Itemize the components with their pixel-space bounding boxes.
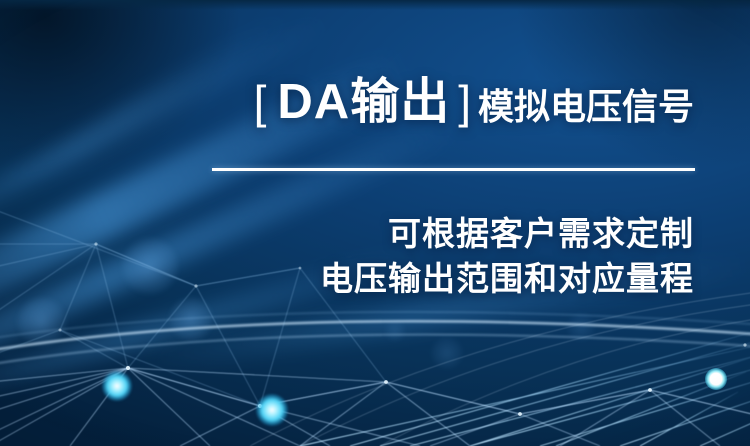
product-banner: [DA输出] 模拟电压信号 可根据客户需求定制 电压输出范围和对应量程	[0, 0, 750, 446]
bracket-open-text: [	[254, 76, 268, 128]
description-block: 可根据客户需求定制 电压输出范围和对应量程	[320, 212, 694, 302]
headline-row: [DA输出] 模拟电压信号	[0, 78, 694, 127]
headline-bracketed: [DA输出]	[254, 78, 472, 127]
headline-subtitle: 模拟电压信号	[478, 89, 694, 125]
horizontal-rule	[212, 168, 695, 171]
bracket-close-text: ]	[458, 76, 472, 128]
headline-keyword: DA输出	[267, 75, 458, 129]
description-line-2: 电压输出范围和对应量程	[320, 257, 694, 302]
description-line-1: 可根据客户需求定制	[320, 212, 694, 257]
banner-content: [DA输出] 模拟电压信号 可根据客户需求定制 电压输出范围和对应量程	[0, 0, 750, 446]
